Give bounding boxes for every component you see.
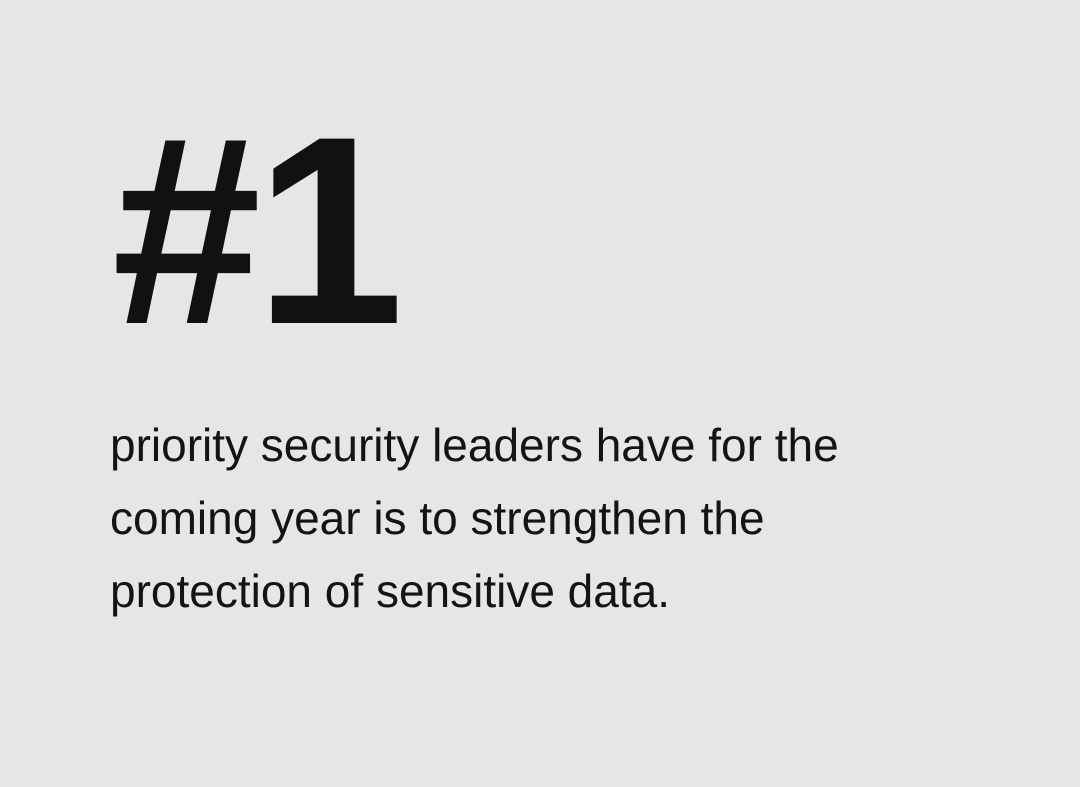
- stat-card: #1 priority security leaders have for th…: [0, 0, 1080, 787]
- statement-text: priority security leaders have for the c…: [110, 409, 950, 628]
- rank-headline: #1: [112, 96, 398, 364]
